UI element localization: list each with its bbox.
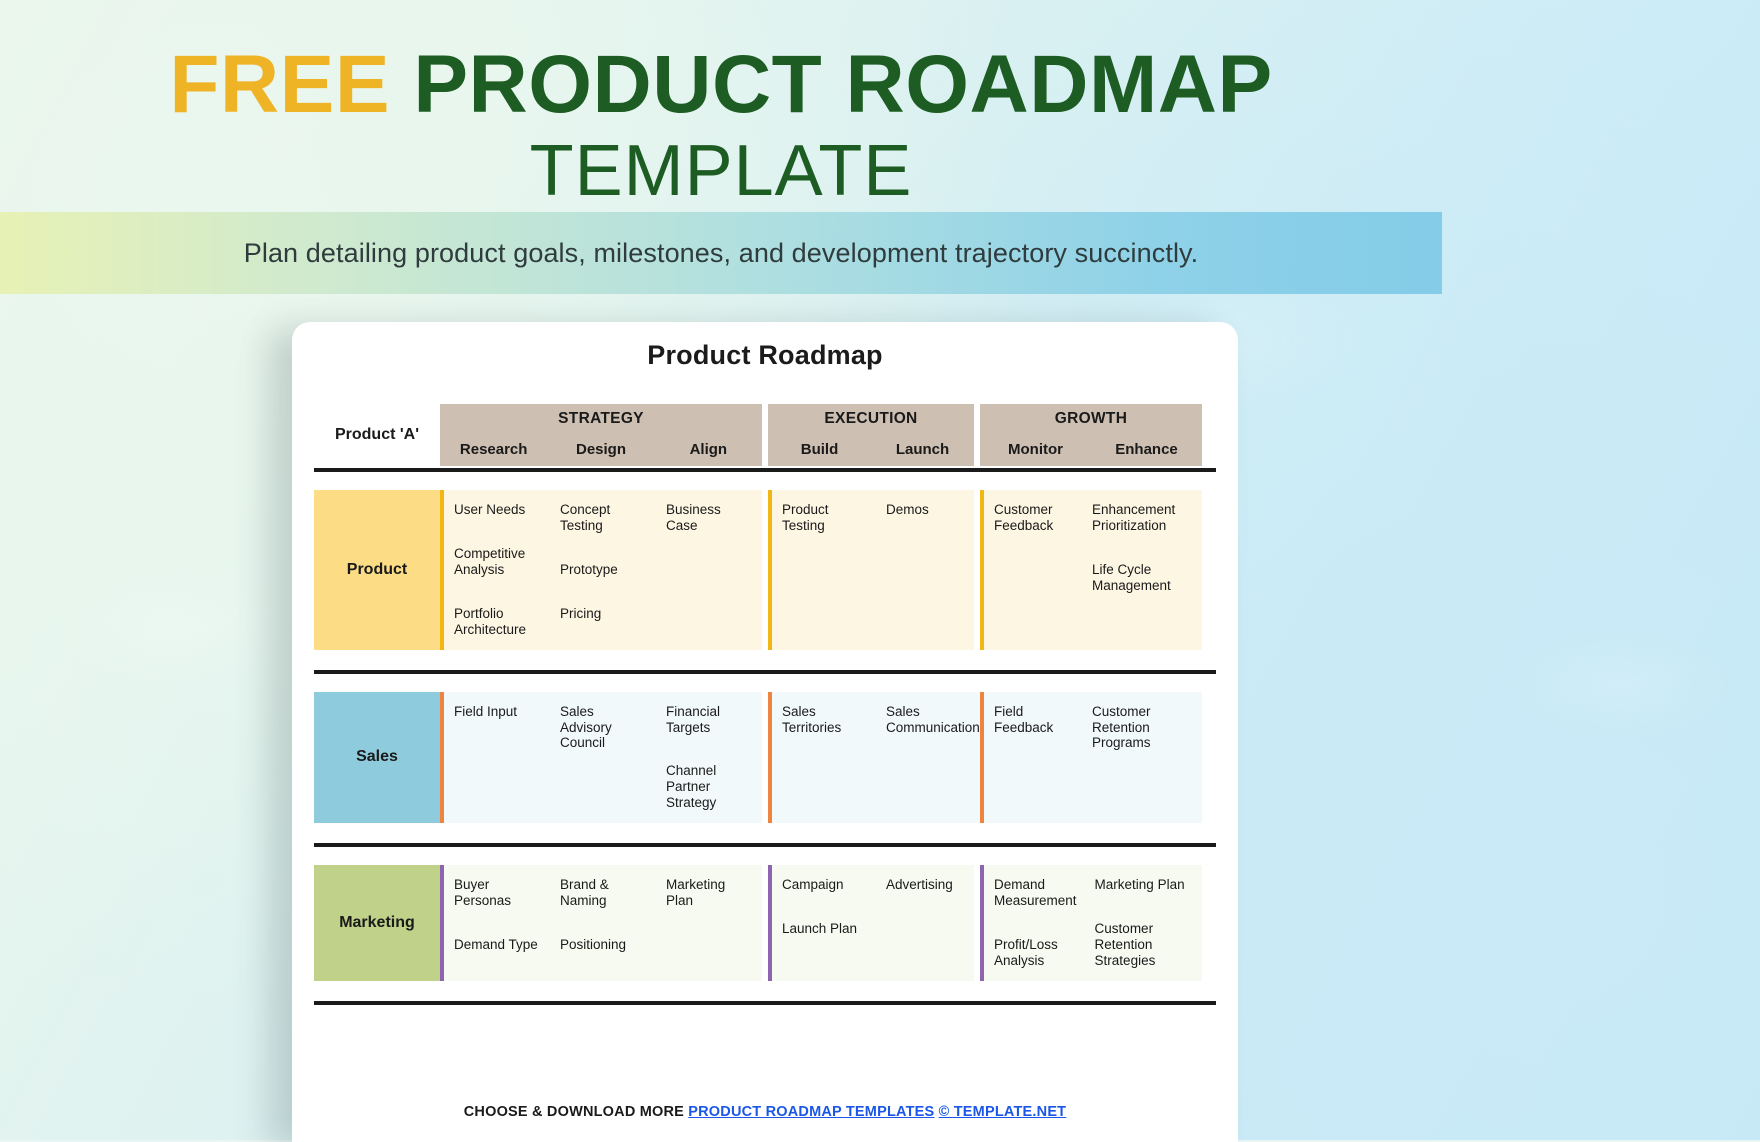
row-divider — [314, 670, 1216, 674]
cell-marketing-design: Brand & Naming Positioning — [550, 865, 656, 981]
footer-site-link[interactable]: © TEMPLATE.NET — [939, 1104, 1067, 1120]
cell-product-build: Product Testing — [768, 490, 876, 650]
hero-title-block: FREE PRODUCT ROADMAP TEMPLATE — [0, 42, 1442, 211]
row-label-product: Product — [314, 490, 440, 650]
phase-execution: EXECUTION Build Launch — [768, 404, 974, 466]
footer-templates-link[interactable]: PRODUCT ROADMAP TEMPLATES — [688, 1104, 934, 1120]
row-product-growth: Customer Feedback Enhancement Prioritiza… — [980, 490, 1202, 650]
product-a-cell: Product 'A' — [314, 404, 440, 466]
sub-launch: Launch — [871, 441, 974, 458]
cell-sales-build: Sales Territories — [768, 692, 876, 824]
cell-sales-design: Sales Advisory Council — [550, 692, 656, 824]
sub-align: Align — [655, 441, 762, 458]
cell-product-launch: Demos — [876, 490, 974, 650]
cell-item: Prototype — [560, 562, 648, 578]
header-divider — [314, 468, 1216, 472]
cell-item: Positioning — [560, 937, 648, 953]
document-title: Product Roadmap — [292, 340, 1238, 371]
cell-marketing-align: Marketing Plan — [656, 865, 762, 981]
table-row: Marketing Buyer Personas Demand Type Bra… — [314, 865, 1216, 981]
cell-item: Customer Retention Strategies — [1095, 921, 1194, 969]
cell-sales-research: Field Input — [440, 692, 550, 824]
phase-execution-subs: Build Launch — [768, 441, 974, 458]
sub-research: Research — [440, 441, 547, 458]
cell-item: Portfolio Architecture — [454, 606, 542, 638]
cell-item: Demand Measurement — [994, 877, 1077, 909]
cell-item: Sales Territories — [782, 704, 868, 736]
cell-item: Field Input — [454, 704, 542, 720]
row-sales-execution: Sales Territories Sales Communication — [768, 692, 974, 824]
cell-sales-enhance: Customer Retention Programs — [1082, 692, 1202, 824]
phase-growth-subs: Monitor Enhance — [980, 441, 1202, 458]
cell-sales-monitor: Field Feedback — [980, 692, 1082, 824]
cell-item: Campaign — [782, 877, 868, 893]
product-a-label: Product 'A' — [335, 426, 419, 444]
phase-execution-name: EXECUTION — [768, 410, 974, 428]
cell-item: Product Testing — [782, 502, 868, 534]
cell-item: Sales Advisory Council — [560, 704, 648, 752]
cell-item: Enhancement Prioritization — [1092, 502, 1194, 534]
row-sales-growth: Field Feedback Customer Retention Progra… — [980, 692, 1202, 824]
cell-sales-align: Financial Targets Channel Partner Strate… — [656, 692, 762, 824]
cell-marketing-monitor: Demand Measurement Profit/Loss Analysis — [980, 865, 1085, 981]
cell-item: Profit/Loss Analysis — [994, 937, 1077, 969]
cell-item: Brand & Naming — [560, 877, 648, 909]
cell-item: Demand Type — [454, 937, 542, 953]
cell-marketing-launch: Advertising — [876, 865, 974, 981]
cell-item: Pricing — [560, 606, 648, 622]
cell-item: Advertising — [886, 877, 966, 893]
table-row: Product User Needs Competitive Analysis … — [314, 490, 1216, 650]
sub-monitor: Monitor — [980, 441, 1091, 458]
subtitle-text: Plan detailing product goals, milestones… — [244, 238, 1199, 269]
phase-growth-name: GROWTH — [980, 410, 1202, 428]
row-sales-strategy: Field Input Sales Advisory Council Finan… — [440, 692, 762, 824]
cell-item: Customer Feedback — [994, 502, 1074, 534]
row-divider — [314, 843, 1216, 847]
sub-design: Design — [547, 441, 654, 458]
subtitle-band: Plan detailing product goals, milestones… — [0, 212, 1442, 294]
phase-strategy-subs: Research Design Align — [440, 441, 762, 458]
cell-product-research: User Needs Competitive Analysis Portfoli… — [440, 490, 550, 650]
phase-growth: GROWTH Monitor Enhance — [980, 404, 1202, 466]
table-bottom-divider — [314, 1001, 1216, 1005]
cell-product-design: Concept Testing Prototype Pricing — [550, 490, 656, 650]
roadmap-table: Product 'A' STRATEGY Research Design Ali… — [314, 404, 1216, 1005]
document-footer: CHOOSE & DOWNLOAD MORE PRODUCT ROADMAP T… — [314, 1104, 1216, 1120]
cell-item: Marketing Plan — [1095, 877, 1194, 893]
row-product-execution: Product Testing Demos — [768, 490, 974, 650]
hero-main-words: PRODUCT ROADMAP — [413, 39, 1272, 130]
phase-strategy-name: STRATEGY — [440, 410, 762, 428]
sub-build: Build — [768, 441, 871, 458]
sub-enhance: Enhance — [1091, 441, 1202, 458]
document-preview-card[interactable]: Product Roadmap Product 'A' STRATEGY Res… — [292, 322, 1238, 1142]
cell-item: Business Case — [666, 502, 754, 534]
cell-marketing-build: Campaign Launch Plan — [768, 865, 876, 981]
cell-marketing-research: Buyer Personas Demand Type — [440, 865, 550, 981]
hero-title-line1: FREE PRODUCT ROADMAP — [0, 42, 1442, 128]
row-marketing-growth: Demand Measurement Profit/Loss Analysis … — [980, 865, 1202, 981]
cell-item: Life Cycle Management — [1092, 562, 1194, 594]
cell-item: Marketing Plan — [666, 877, 754, 909]
row-label-sales: Sales — [314, 692, 440, 824]
format-icons-panel: W X PDF P — [1442, 0, 1760, 1140]
cell-marketing-enhance: Marketing Plan Customer Retention Strate… — [1085, 865, 1202, 981]
cell-item: Concept Testing — [560, 502, 648, 534]
footer-prefix: CHOOSE & DOWNLOAD MORE — [464, 1104, 689, 1120]
row-marketing-execution: Campaign Launch Plan Advertising — [768, 865, 974, 981]
table-row: Sales Field Input Sales Advisory Council… — [314, 692, 1216, 824]
cell-item: Demos — [886, 502, 966, 518]
cell-product-align: Business Case — [656, 490, 762, 650]
cell-item: Buyer Personas — [454, 877, 542, 909]
cell-item: Field Feedback — [994, 704, 1074, 736]
cell-item: Launch Plan — [782, 921, 868, 937]
hero-free-word: FREE — [169, 39, 390, 130]
hero-title-line2: TEMPLATE — [0, 132, 1442, 211]
phase-strategy: STRATEGY Research Design Align — [440, 404, 762, 466]
row-marketing-strategy: Buyer Personas Demand Type Brand & Namin… — [440, 865, 762, 981]
cell-item: Customer Retention Programs — [1092, 704, 1194, 752]
cell-item: Competitive Analysis — [454, 546, 542, 578]
row-label-marketing: Marketing — [314, 865, 440, 981]
cell-item: User Needs — [454, 502, 542, 518]
cell-item: Financial Targets — [666, 704, 754, 736]
cell-sales-launch: Sales Communication — [876, 692, 988, 824]
row-product-strategy: User Needs Competitive Analysis Portfoli… — [440, 490, 762, 650]
cell-product-monitor: Customer Feedback — [980, 490, 1082, 650]
cell-item: Sales Communication — [886, 704, 980, 736]
cell-product-enhance: Enhancement Prioritization Life Cycle Ma… — [1082, 490, 1202, 650]
cell-item: Channel Partner Strategy — [666, 763, 754, 811]
roadmap-header-row: Product 'A' STRATEGY Research Design Ali… — [314, 404, 1216, 466]
